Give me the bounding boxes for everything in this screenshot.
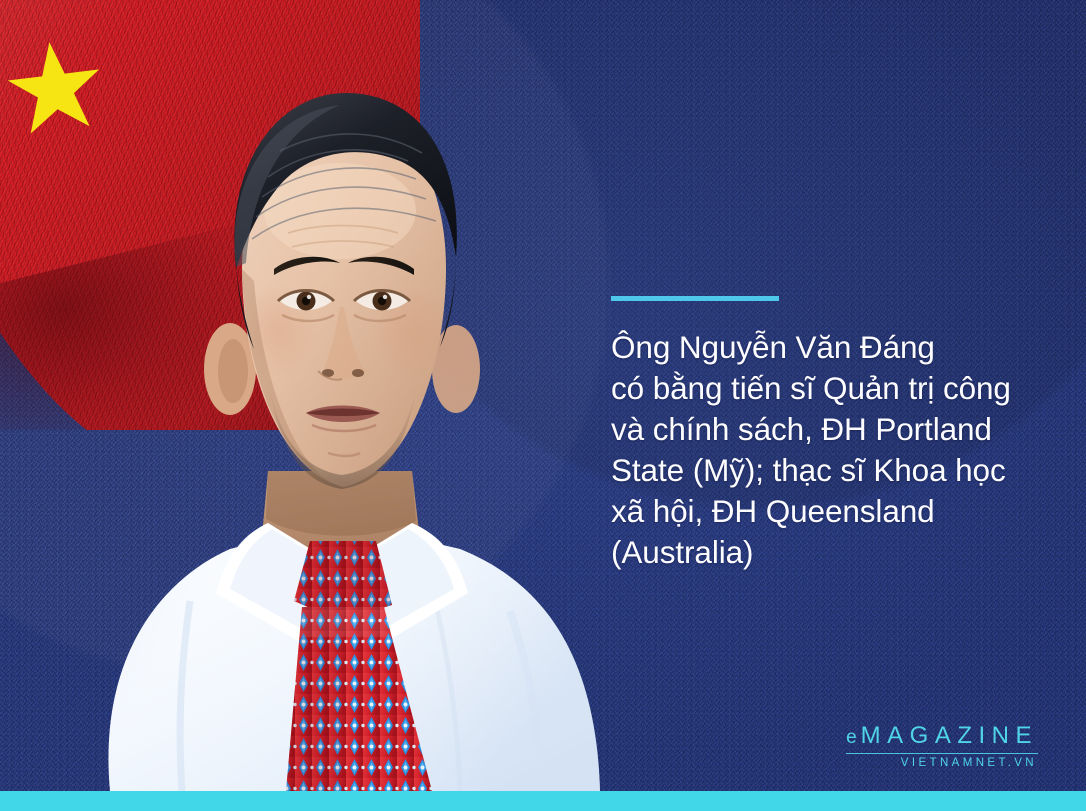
emagazine-quote-card: Ông Nguyễn Văn Đáng có bằng tiến sĩ Quản… xyxy=(0,0,1086,811)
logo-main-text: MAGAZINE xyxy=(861,722,1038,749)
quote-text: Ông Nguyễn Văn Đáng có bằng tiến sĩ Quản… xyxy=(611,327,1061,573)
bottom-accent-bar xyxy=(0,791,1086,811)
logo-lead-letter: e xyxy=(846,727,861,748)
quote-block: Ông Nguyễn Văn Đáng có bằng tiến sĩ Quản… xyxy=(611,296,1061,573)
cyan-accent-rule xyxy=(611,296,779,301)
logo-divider xyxy=(846,753,1038,754)
logo-site-name: VIETNAMNET.VN xyxy=(846,758,1038,770)
emagazine-logo[interactable]: eMAGAZINE VIETNAMNET.VN xyxy=(846,724,1038,770)
portrait-photo xyxy=(40,1,640,791)
logo-wordmark: eMAGAZINE xyxy=(846,724,1038,748)
